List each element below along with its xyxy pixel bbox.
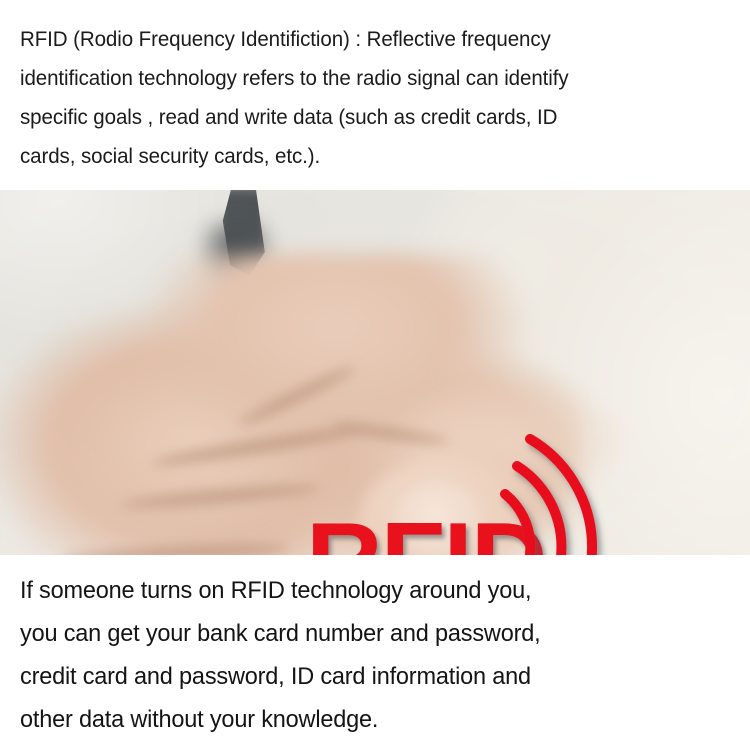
product-description-page: RFID (Rodio Frequency Identifiction) : R… bbox=[0, 0, 750, 750]
outro-line-3: credit card and password, ID card inform… bbox=[20, 655, 704, 698]
outro-line-2: you can get your bank card number and pa… bbox=[20, 612, 704, 655]
intro-line-3: specific goals , read and write data (su… bbox=[20, 98, 700, 137]
intro-line-2: identification technology refers to the … bbox=[20, 59, 700, 98]
intro-line-1: RFID (Rodio Frequency Identifiction) : R… bbox=[20, 20, 700, 59]
rfid-hand-photo: RFID bbox=[0, 190, 750, 555]
outro-line-1: If someone turns on RFID technology arou… bbox=[20, 569, 704, 612]
rfid-warning-paragraph: If someone turns on RFID technology arou… bbox=[0, 555, 750, 750]
outro-line-4: other data without your knowledge. bbox=[20, 698, 704, 741]
fingernail-shape bbox=[396, 484, 482, 555]
intro-line-4: cards, social security cards, etc.). bbox=[20, 137, 700, 176]
rfid-definition-paragraph: RFID (Rodio Frequency Identifiction) : R… bbox=[0, 0, 750, 190]
